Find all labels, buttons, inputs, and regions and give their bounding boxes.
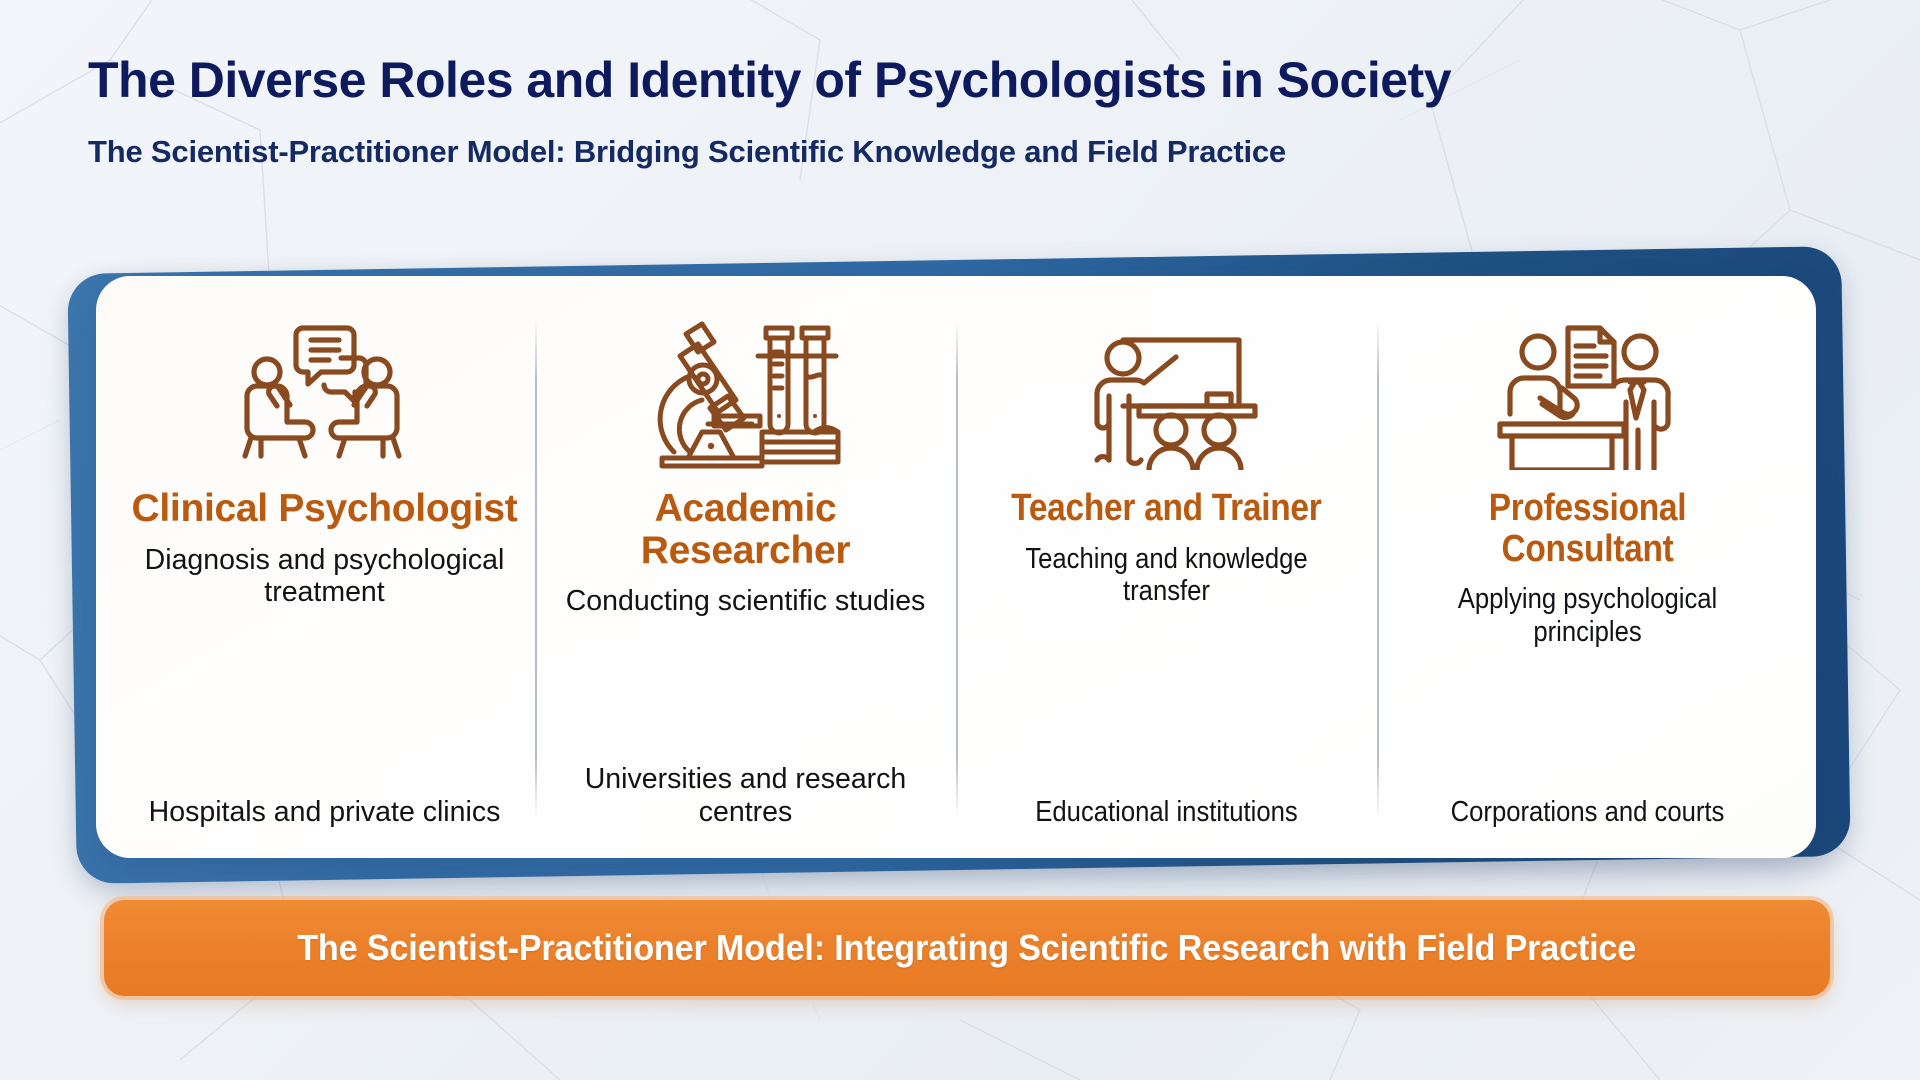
role-title: Academic Researcher [549, 488, 942, 571]
page-subtitle: The Scientist-Practitioner Model: Bridgi… [88, 134, 1920, 170]
microscope-lab-icon [646, 310, 846, 480]
role-column-clinical-psychologist[interactable]: Clinical Psychologist Diagnosis and psyc… [114, 310, 535, 836]
page-header: The Diverse Roles and Identity of Psycho… [0, 0, 1920, 170]
role-title: Clinical Psychologist [132, 488, 518, 530]
role-workplace: Educational institutions [990, 796, 1344, 828]
teacher-classroom-icon [1067, 310, 1267, 480]
therapy-session-icon [225, 310, 425, 480]
role-title: Teacher and Trainer [1011, 488, 1321, 529]
role-title: Professional Consultant [1415, 488, 1761, 569]
role-description: Applying psychological principles [1411, 583, 1765, 648]
role-description: Teaching and knowledge transfer [990, 543, 1344, 608]
role-column-teacher-trainer[interactable]: Teacher and Trainer Teaching and knowled… [956, 310, 1377, 836]
page-title: The Diverse Roles and Identity of Psycho… [88, 52, 1920, 108]
bottom-banner-text: The Scientist-Practitioner Model: Integr… [298, 927, 1637, 969]
role-workplace: Universities and research centres [549, 763, 942, 828]
role-column-professional-consultant[interactable]: Professional Consultant Applying psychol… [1377, 310, 1798, 836]
roles-card-stack: Clinical Psychologist Diagnosis and psyc… [56, 250, 1864, 890]
role-workplace: Hospitals and private clinics [128, 796, 521, 828]
bottom-banner: The Scientist-Practitioner Model: Integr… [104, 900, 1830, 996]
role-description: Conducting scientific studies [566, 585, 926, 617]
roles-card: Clinical Psychologist Diagnosis and psyc… [96, 276, 1816, 858]
role-workplace: Corporations and courts [1411, 796, 1765, 828]
role-column-academic-researcher[interactable]: Academic Researcher Conducting scientifi… [535, 310, 956, 836]
role-description: Diagnosis and psychological treatment [128, 544, 521, 609]
handshake-consulting-icon [1488, 310, 1688, 480]
